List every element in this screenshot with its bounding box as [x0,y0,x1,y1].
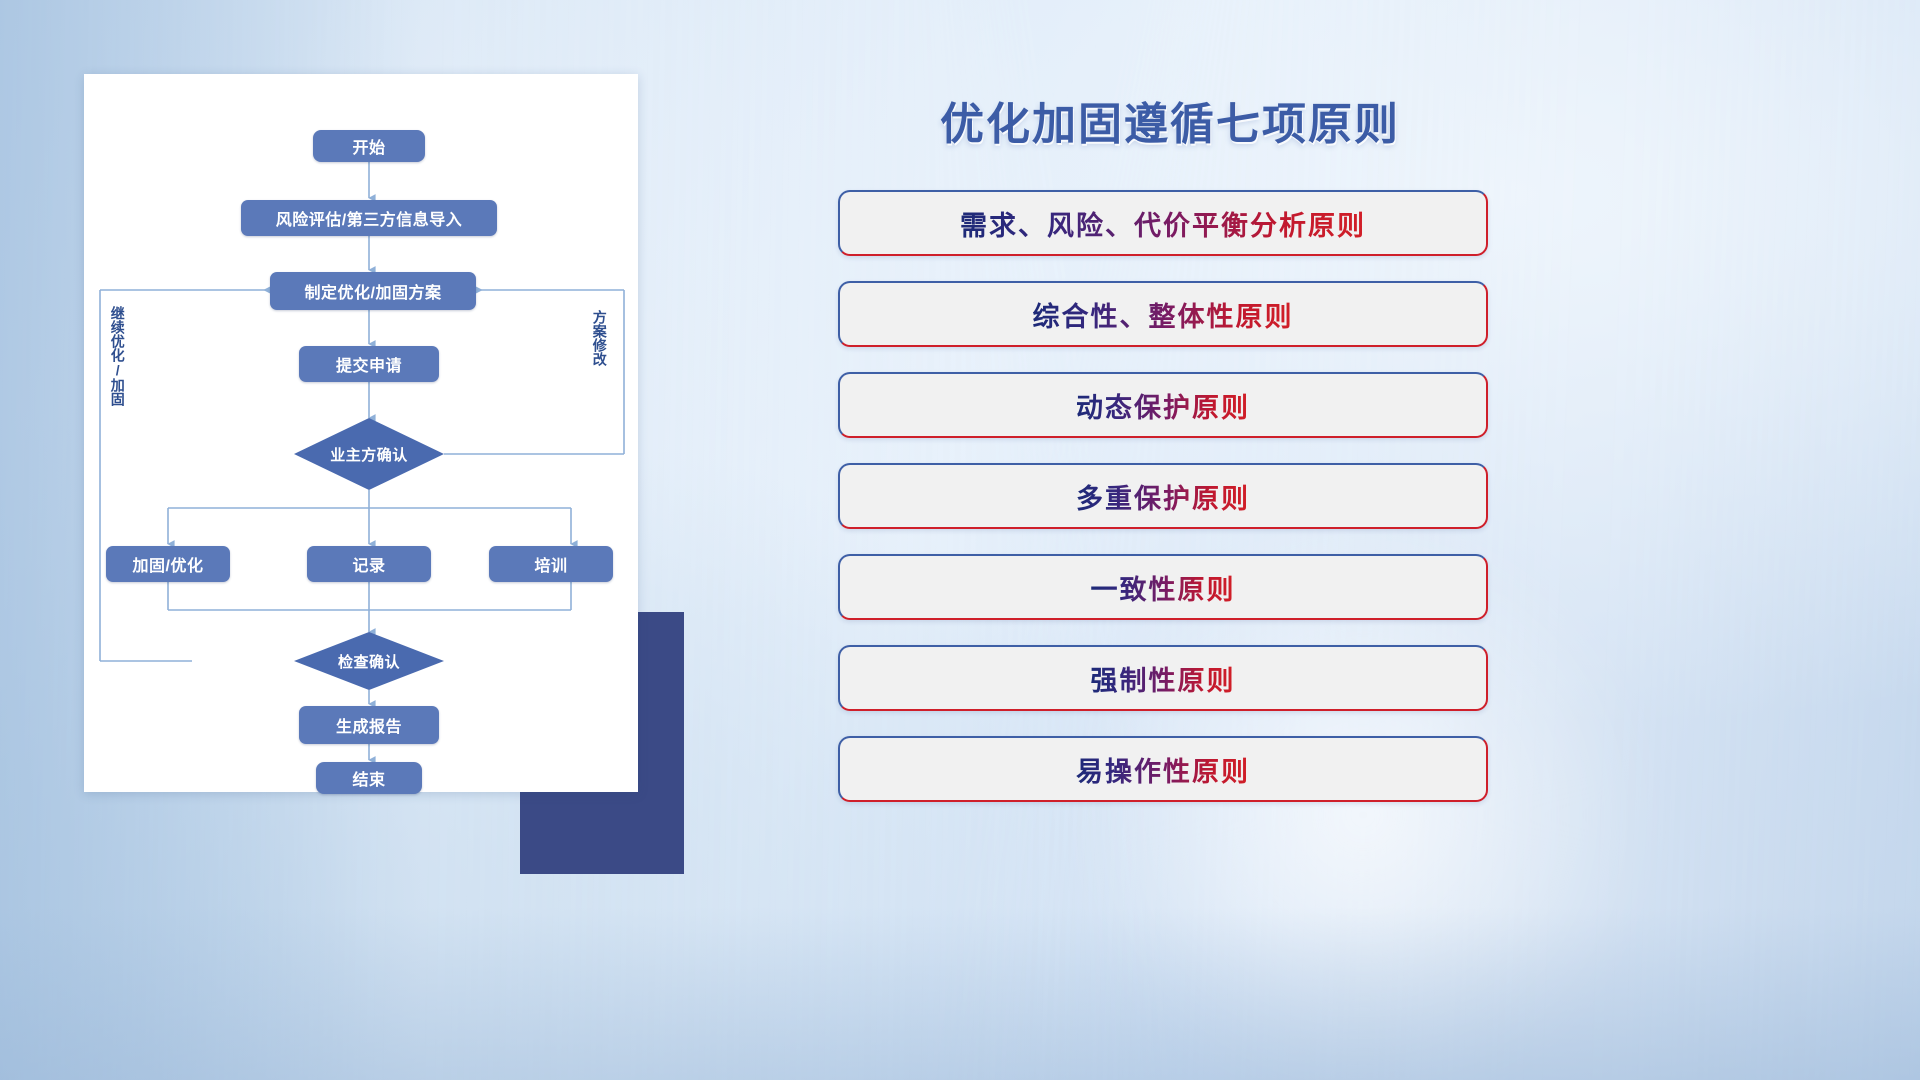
principle-item-6[interactable]: 强制性原则 [838,645,1488,711]
principle-item-7[interactable]: 易操作性原则 [838,736,1488,802]
principles-list: 需求、风险、代价平衡分析原则 综合性、整体性原则 动态保护原则 多重保护原则 一… [838,190,1488,827]
principle-item-3[interactable]: 动态保护原则 [838,372,1488,438]
principle-label: 综合性、整体性原则 [1033,295,1294,334]
principle-label: 强制性原则 [1091,659,1236,698]
principle-label: 多重保护原则 [1076,477,1250,516]
principle-item-2[interactable]: 综合性、整体性原则 [838,281,1488,347]
principle-label: 动态保护原则 [1076,386,1250,425]
flow-node-training[interactable]: 培训 [489,546,613,582]
flow-node-reinforce-optimize[interactable]: 加固/优化 [106,546,230,582]
principle-item-1[interactable]: 需求、风险、代价平衡分析原则 [838,190,1488,256]
flowchart-card: 继续优化/加固 方案修改 开始 风险评估/第三方信息导入 制定优化/加固方案 提… [84,74,638,792]
flow-node-start[interactable]: 开始 [313,130,425,162]
flow-loop-label-right: 方案修改 [592,310,607,420]
flow-node-record[interactable]: 记录 [307,546,431,582]
principle-item-4[interactable]: 多重保护原则 [838,463,1488,529]
flow-node-risk-assessment[interactable]: 风险评估/第三方信息导入 [241,200,497,236]
principle-label: 一致性原则 [1091,568,1236,607]
flow-node-end[interactable]: 结束 [316,762,422,794]
principle-label: 易操作性原则 [1076,750,1250,789]
flow-node-generate-report[interactable]: 生成报告 [299,706,439,744]
principle-item-5[interactable]: 一致性原则 [838,554,1488,620]
principle-label: 需求、风险、代价平衡分析原则 [960,204,1366,243]
flowchart-panel: 继续优化/加固 方案修改 开始 风险评估/第三方信息导入 制定优化/加固方案 提… [84,74,684,814]
page-title: 优化加固遵循七项原则 [940,88,1400,152]
principles-panel: 优化加固遵循七项原则 需求、风险、代价平衡分析原则 综合性、整体性原则 动态保护… [830,0,1920,1080]
flow-node-make-plan[interactable]: 制定优化/加固方案 [270,272,476,310]
flow-node-submit-application[interactable]: 提交申请 [299,346,439,382]
flow-loop-label-left: 继续优化/加固 [110,306,125,456]
